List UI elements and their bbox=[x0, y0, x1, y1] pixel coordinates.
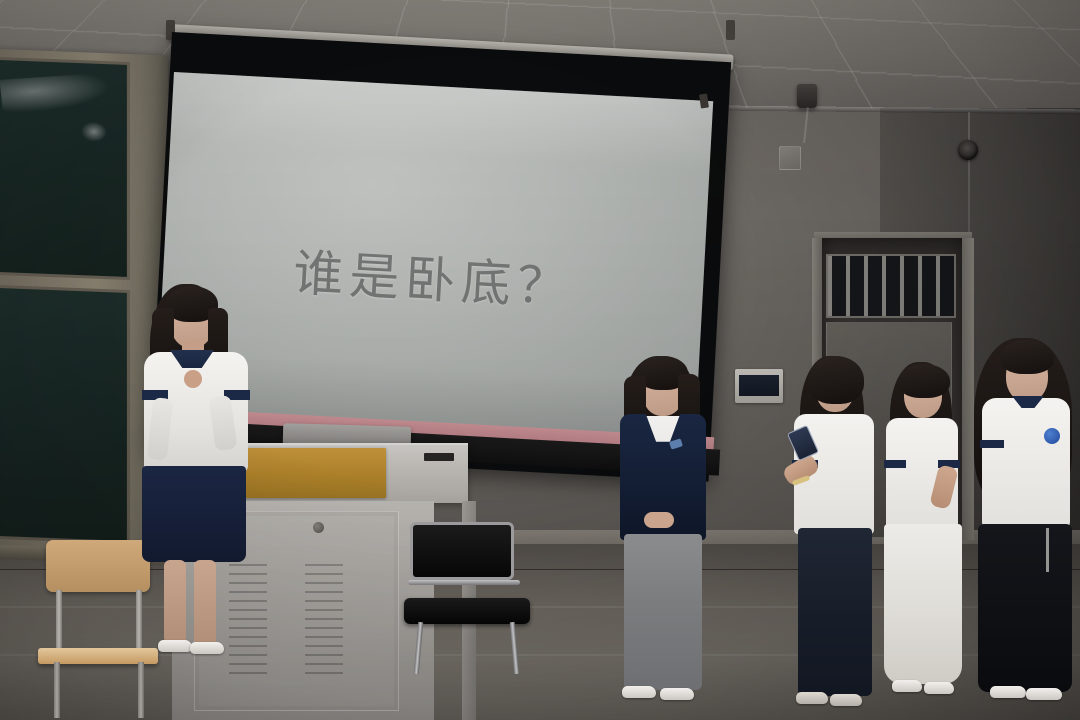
lock-icon[interactable] bbox=[313, 522, 324, 533]
black-trousers bbox=[978, 524, 1072, 692]
shoe-left bbox=[892, 680, 922, 692]
black-chair-seat bbox=[404, 598, 530, 624]
hair-top bbox=[808, 356, 864, 404]
navy-skirt bbox=[142, 466, 246, 562]
ceiling-speaker-icon bbox=[797, 84, 817, 108]
wall-control-panel-face bbox=[739, 375, 779, 396]
classroom-photo-scene: 谁是卧底？ bbox=[0, 0, 1080, 720]
blackboard-glare bbox=[0, 73, 112, 114]
blackboard-glare-spot bbox=[81, 121, 107, 142]
wooden-chair-leg-left bbox=[54, 662, 60, 718]
wall-control-panel[interactable] bbox=[735, 369, 783, 403]
shoe-right bbox=[660, 688, 694, 700]
wooden-chair-post-left bbox=[56, 590, 62, 652]
door-transom-window bbox=[826, 254, 956, 318]
grey-jeans bbox=[624, 534, 702, 690]
hand-holding-microphone bbox=[184, 370, 202, 388]
black-chair-rail bbox=[408, 580, 520, 585]
uniform-top bbox=[982, 398, 1070, 528]
black-chair-backrest bbox=[410, 522, 514, 580]
lectern-wood-panel bbox=[238, 448, 386, 498]
shoe-right bbox=[830, 694, 862, 706]
blackboard-panel-lower bbox=[0, 285, 130, 544]
leg-right bbox=[194, 560, 216, 646]
wall-junction-box bbox=[779, 146, 801, 170]
shoe-left bbox=[158, 640, 192, 652]
shoe-left bbox=[622, 686, 656, 698]
shoe-right bbox=[190, 642, 224, 654]
hair-top bbox=[898, 364, 950, 398]
person-presenter bbox=[128, 278, 250, 678]
blackboard-panel-upper bbox=[0, 57, 130, 280]
person-participant-with-phone bbox=[786, 356, 890, 720]
transom-bars bbox=[828, 256, 954, 316]
drawstring bbox=[1046, 528, 1049, 572]
shoe-right bbox=[924, 682, 954, 694]
uniform-badge-icon bbox=[1044, 428, 1060, 444]
lectern-vent-right bbox=[305, 564, 343, 680]
lectern-slot-right bbox=[424, 453, 454, 461]
hair-top bbox=[1000, 340, 1054, 374]
security-camera-icon bbox=[958, 140, 978, 160]
dark-trousers bbox=[798, 528, 872, 696]
black-chair[interactable] bbox=[404, 506, 534, 666]
person-participant-white-skirt bbox=[876, 362, 972, 718]
leg-left bbox=[164, 560, 186, 644]
sleeve-trim bbox=[980, 440, 1004, 448]
roller-bracket-right bbox=[726, 20, 735, 40]
person-participant-smiling bbox=[968, 336, 1080, 720]
white-skirt bbox=[884, 524, 962, 684]
shoe-left bbox=[796, 692, 828, 704]
shoe-left bbox=[990, 686, 1026, 698]
shoe-right bbox=[1026, 688, 1062, 700]
person-participant-blazer bbox=[608, 352, 716, 718]
hands-clasped bbox=[644, 512, 674, 528]
